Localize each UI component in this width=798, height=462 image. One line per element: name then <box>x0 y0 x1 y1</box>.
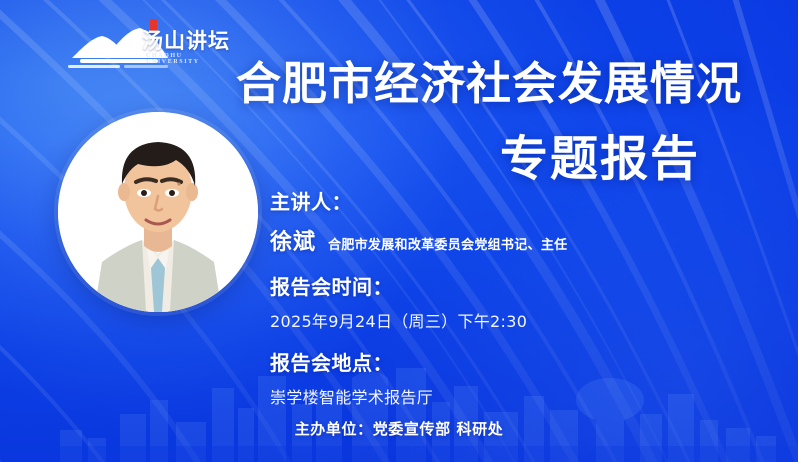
page-title-line2: 专题报告 <box>500 133 700 185</box>
time-label: 报告会时间： <box>270 271 740 300</box>
page-title-line1: 合肥市经济社会发展情况 <box>236 60 742 108</box>
time-value: 2025年9月24日（周三）下午2:30 <box>270 308 740 332</box>
place-block: 报告会地点： 崇学楼智能学术报告厅 <box>270 347 740 408</box>
poster-canvas: 汤山讲坛 CHAOHU UNIVERSITY <box>0 0 798 462</box>
logo-english-name: CHAOHU UNIVERSITY <box>146 53 236 65</box>
speaker-title: 合肥市发展和改革委员会党组书记、主任 <box>328 234 567 253</box>
speaker-label: 主讲人： <box>270 186 740 215</box>
speaker-name: 徐斌 <box>270 224 316 256</box>
logo-name: 汤山讲坛 <box>142 25 230 55</box>
organizer-footer: 主办单位：党委宣传部 科研处 <box>0 418 798 439</box>
event-details: 主讲人： 徐斌 合肥市发展和改革委员会党组书记、主任 报告会时间： 2025年9… <box>270 186 740 408</box>
place-label: 报告会地点： <box>270 347 740 376</box>
place-value: 崇学楼智能学术报告厅 <box>270 384 740 408</box>
speaker-row: 徐斌 合肥市发展和改革委员会党组书记、主任 <box>270 224 740 256</box>
speaker-portrait <box>58 112 258 312</box>
time-block: 报告会时间： 2025年9月24日（周三）下午2:30 <box>270 271 740 332</box>
brand-logo: 汤山讲坛 CHAOHU UNIVERSITY <box>66 22 236 74</box>
